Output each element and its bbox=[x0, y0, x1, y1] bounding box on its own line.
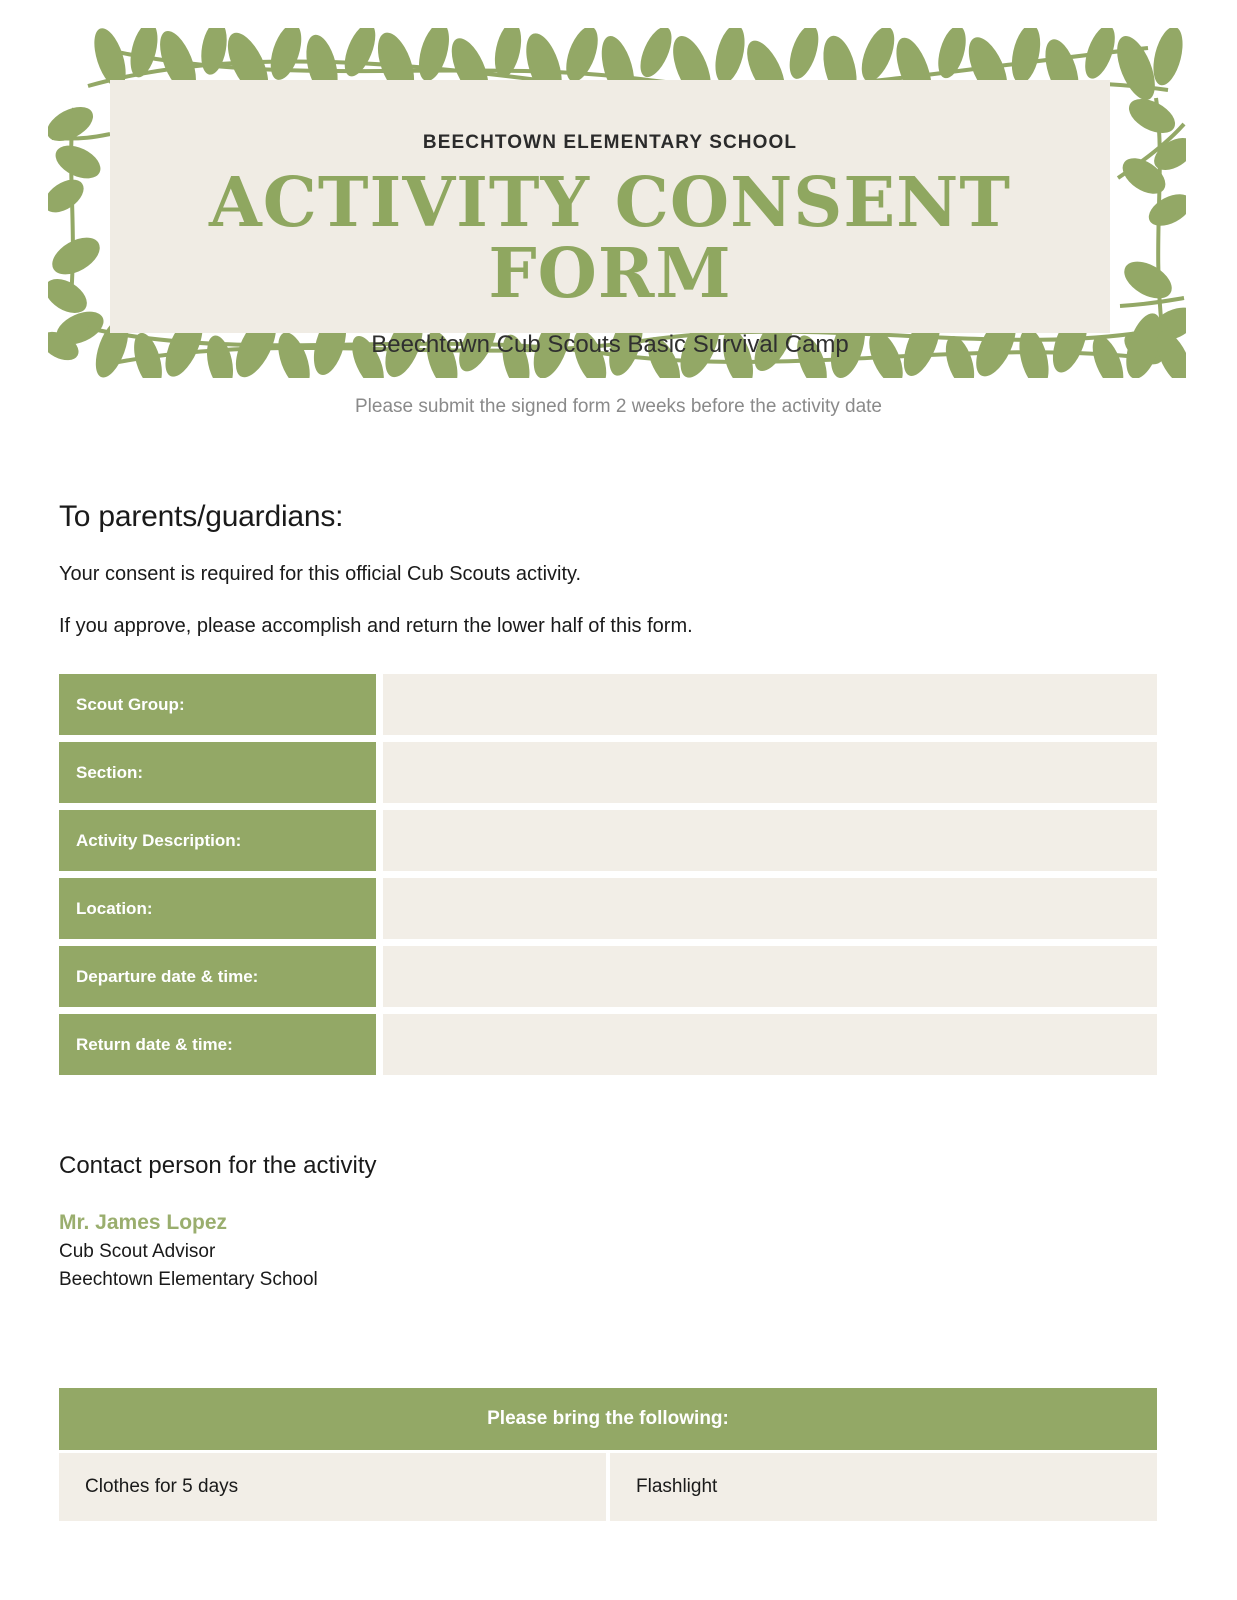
activity-subtitle: Beechtown Cub Scouts Basic Survival Camp bbox=[371, 331, 849, 359]
table-row: Scout Group: bbox=[59, 674, 1157, 735]
to-parents-heading: To parents/guardians: bbox=[59, 500, 1159, 534]
header-title-panel: BEECHTOWN ELEMENTARY SCHOOL ACTIVITY CON… bbox=[110, 80, 1110, 333]
contact-name: Mr. James Lopez bbox=[59, 1211, 959, 1235]
header-banner: BEECHTOWN ELEMENTARY SCHOOL ACTIVITY CON… bbox=[48, 28, 1186, 378]
field-label-return: Return date & time: bbox=[59, 1014, 376, 1075]
field-label-location: Location: bbox=[59, 878, 376, 939]
bring-list-header: Please bring the following: bbox=[59, 1388, 1157, 1450]
field-input-activity-description[interactable] bbox=[383, 810, 1157, 871]
table-row: Activity Description: bbox=[59, 810, 1157, 871]
list-item: Flashlight bbox=[610, 1453, 1157, 1521]
field-label-departure: Departure date & time: bbox=[59, 946, 376, 1007]
bring-list-block: Please bring the following: Clothes for … bbox=[59, 1388, 1157, 1521]
table-row: Section: bbox=[59, 742, 1157, 803]
contact-person-block: Contact person for the activity Mr. Jame… bbox=[59, 1152, 959, 1291]
page-title: ACTIVITY CONSENT FORM bbox=[110, 168, 1110, 311]
field-input-section[interactable] bbox=[383, 742, 1157, 803]
field-input-return[interactable] bbox=[383, 1014, 1157, 1075]
submit-deadline-note: Please submit the signed form 2 weeks be… bbox=[0, 396, 1237, 418]
list-item: Clothes for 5 days bbox=[59, 1453, 606, 1521]
field-label-activity-description: Activity Description: bbox=[59, 810, 376, 871]
contact-role: Cub Scout Advisor bbox=[59, 1241, 959, 1263]
activity-details-table: Scout Group: Section: Activity Descripti… bbox=[59, 674, 1157, 1082]
field-input-scout-group[interactable] bbox=[383, 674, 1157, 735]
consent-form-page: BEECHTOWN ELEMENTARY SCHOOL ACTIVITY CON… bbox=[0, 0, 1237, 1600]
table-row: Location: bbox=[59, 878, 1157, 939]
school-name: BEECHTOWN ELEMENTARY SCHOOL bbox=[423, 132, 797, 154]
table-row: Departure date & time: bbox=[59, 946, 1157, 1007]
consent-paragraph-2: If you approve, please accomplish and re… bbox=[59, 615, 1159, 638]
field-input-departure[interactable] bbox=[383, 946, 1157, 1007]
parents-message-block: To parents/guardians: Your consent is re… bbox=[59, 500, 1159, 638]
bring-list-grid: Clothes for 5 days Flashlight bbox=[59, 1453, 1157, 1521]
field-label-scout-group: Scout Group: bbox=[59, 674, 376, 735]
contact-organization: Beechtown Elementary School bbox=[59, 1269, 959, 1291]
field-label-section: Section: bbox=[59, 742, 376, 803]
table-row: Return date & time: bbox=[59, 1014, 1157, 1075]
field-input-location[interactable] bbox=[383, 878, 1157, 939]
contact-heading: Contact person for the activity bbox=[59, 1152, 959, 1180]
consent-paragraph-1: Your consent is required for this offici… bbox=[59, 563, 1159, 586]
